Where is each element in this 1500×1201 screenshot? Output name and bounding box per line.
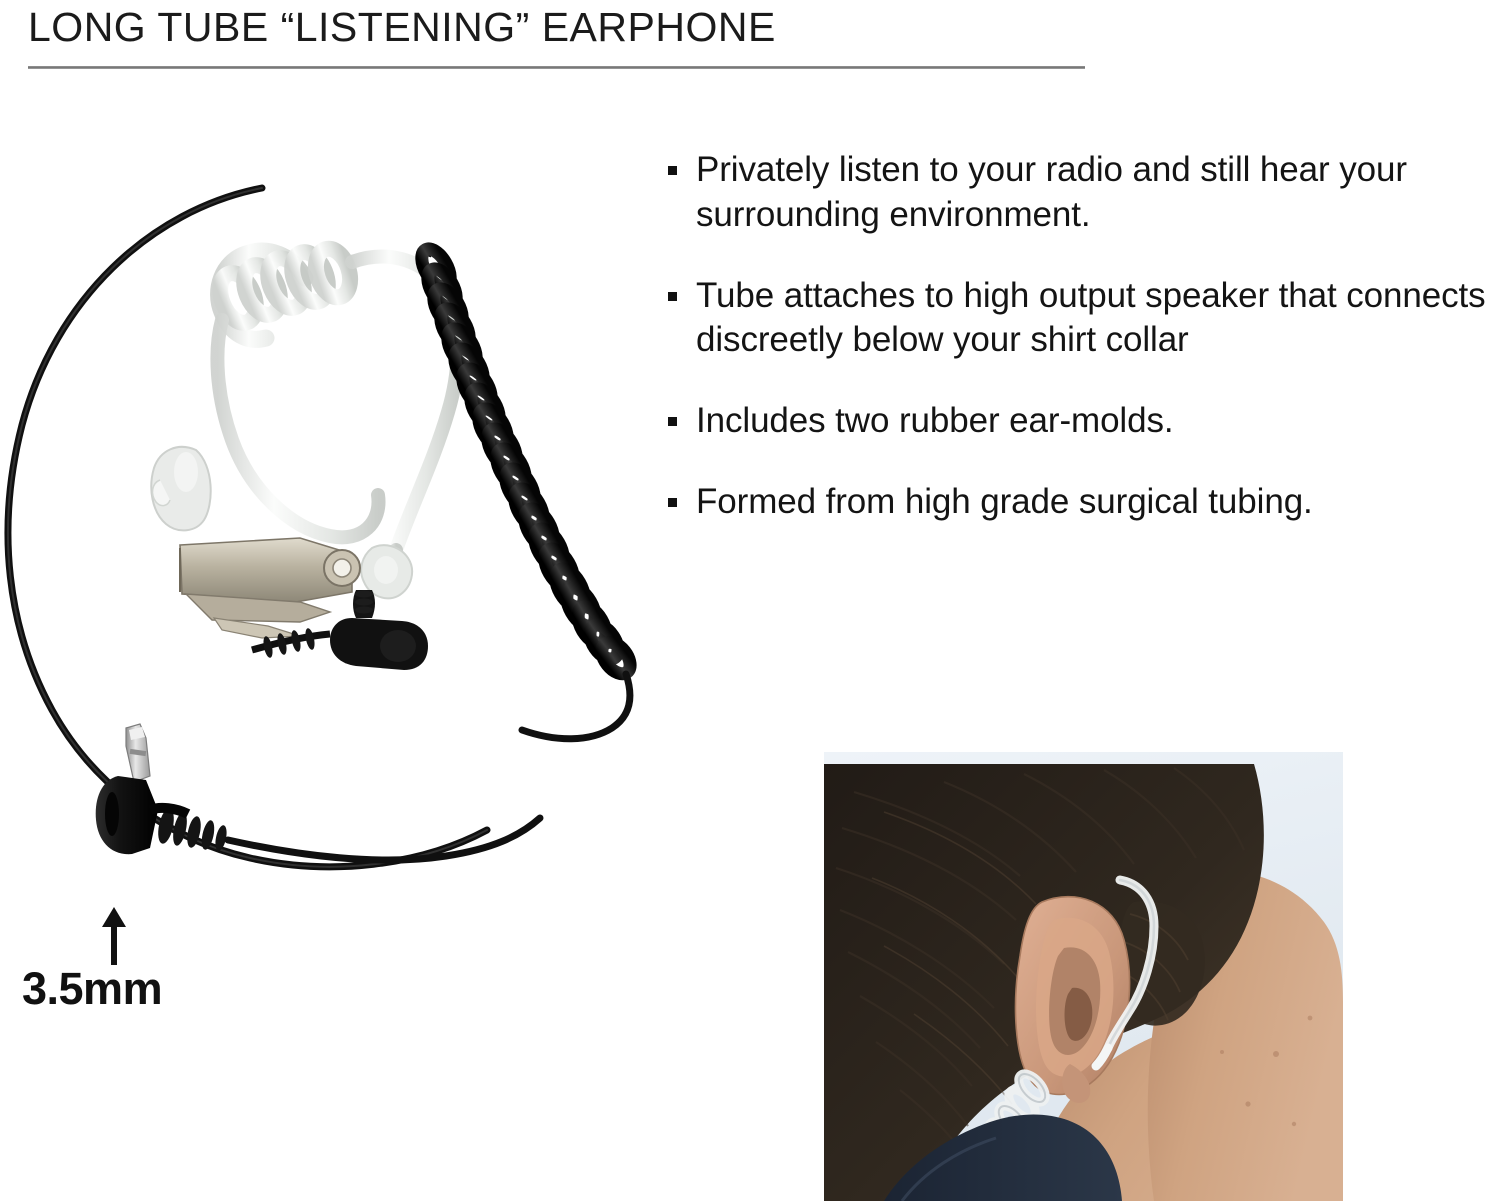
bullet-square-icon xyxy=(668,292,677,301)
feature-text: Privately listen to your radio and still… xyxy=(696,150,1407,234)
bullet-square-icon xyxy=(668,166,677,175)
feature-item: Privately listen to your radio and still… xyxy=(662,148,1500,238)
feature-text: Formed from high grade surgical tubing. xyxy=(696,482,1313,521)
feature-text: Includes two rubber ear-molds. xyxy=(696,401,1174,440)
clear-acoustic-coil-tube xyxy=(213,244,457,582)
wearing-photo xyxy=(824,752,1343,1201)
feature-item: Formed from high grade surgical tubing. xyxy=(662,480,1500,525)
arrow-up-icon xyxy=(100,905,128,967)
rubber-ear-mold xyxy=(151,447,210,531)
bullet-square-icon xyxy=(668,417,677,426)
bullet-square-icon xyxy=(668,498,677,507)
black-speaker-housing xyxy=(330,590,428,670)
plug-size-callout: 3.5mm xyxy=(22,905,242,1015)
coiled-black-cable xyxy=(416,244,636,738)
feature-list: Privately listen to your radio and still… xyxy=(662,148,1500,525)
feature-item: Includes two rubber ear-molds. xyxy=(662,399,1500,444)
page-title: LONG TUBE “LISTENING” EARPHONE xyxy=(28,2,1128,52)
product-photo xyxy=(0,150,680,890)
feature-text: Tube attaches to high output speaker tha… xyxy=(696,276,1486,360)
product-infographic-page: LONG TUBE “LISTENING” EARPHONE xyxy=(0,0,1500,1201)
metal-alligator-clip xyxy=(180,538,360,638)
title-divider xyxy=(28,66,1085,69)
feature-item: Tube attaches to high output speaker tha… xyxy=(662,274,1500,364)
plug-size-label: 3.5mm xyxy=(22,963,162,1015)
